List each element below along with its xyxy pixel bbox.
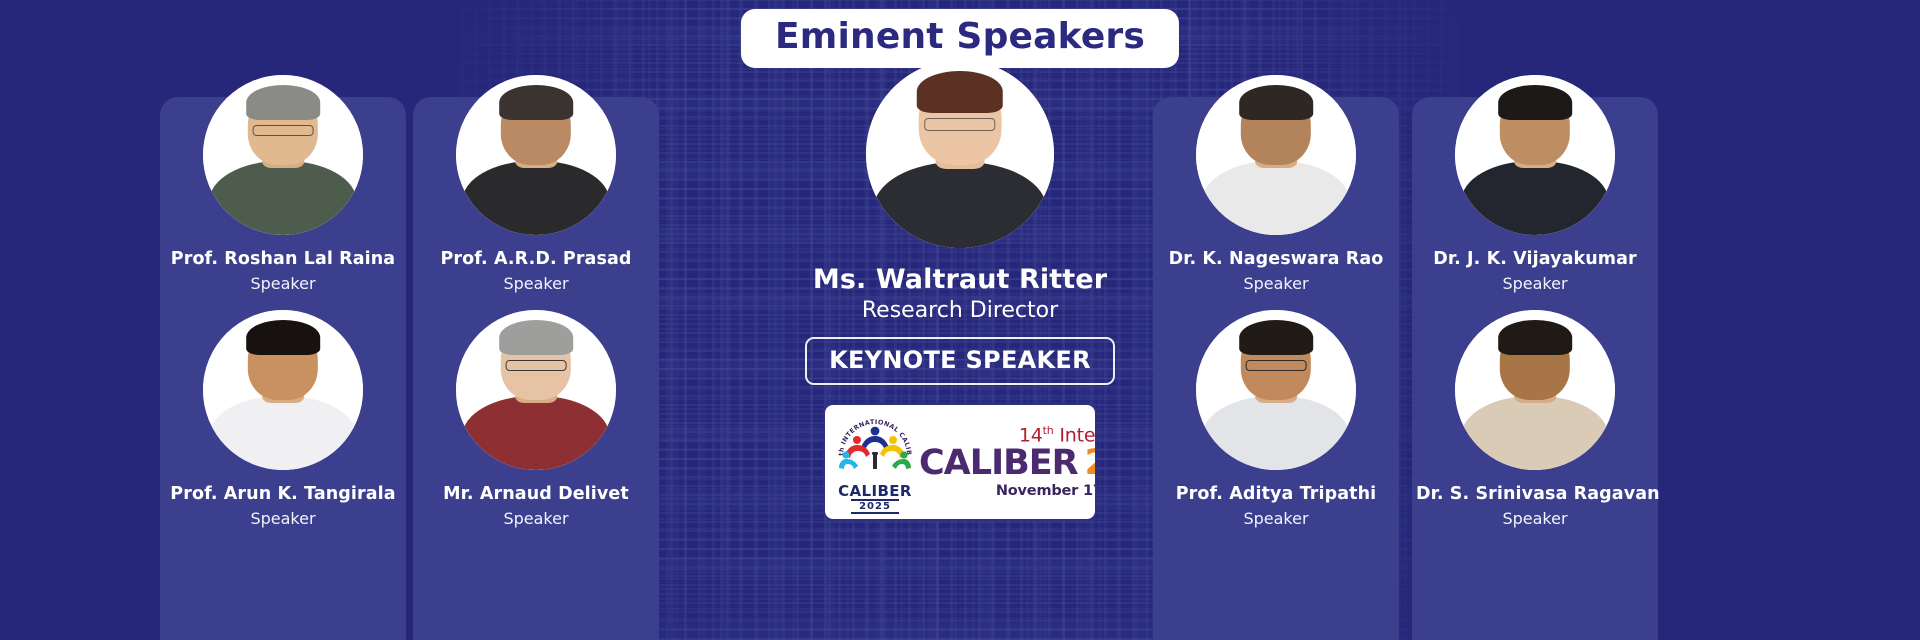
speaker-name: Prof. Arun K. Tangirala [164,484,402,505]
speaker-name-block: Prof. Roshan Lal Raina Speaker [160,249,406,295]
keynote-role: Research Director [750,298,1170,323]
avatar [1455,310,1615,470]
speaker-name: Dr. S. Srinivasa Ragavan [1416,484,1654,505]
speaker-card-arun-k-tangirala[interactable]: Prof. Arun K. Tangirala Speaker [160,332,406,640]
emblem-year-text: 2025 [851,499,899,514]
caliber-logo-text-block: 14th International CALIBER2025 November … [919,425,1097,499]
speaker-name: Prof. Roshan Lal Raina [164,249,402,270]
keynote-name: Ms. Waltraut Ritter [750,264,1170,295]
speaker-name-block: Dr. K. Nageswara Rao Speaker [1153,249,1399,295]
speaker-name-block: Dr. J. K. Vijayakumar Speaker [1412,249,1658,295]
portrait-image [866,60,1054,248]
speaker-name: Dr. K. Nageswara Rao [1157,249,1395,270]
portrait-image [203,310,363,470]
portrait-image [1455,310,1615,470]
portrait-image [1455,75,1615,235]
speaker-role: Speaker [1157,508,1395,530]
avatar [203,75,363,235]
avatar [1196,310,1356,470]
speaker-role: Speaker [1416,508,1654,530]
page-title-pill: Eminent Speakers [741,9,1179,68]
logo-ordinal-suffix: th [1043,424,1054,437]
speaker-name: Mr. Arnaud Delivet [417,484,655,505]
speaker-name: Prof. A.R.D. Prasad [417,249,655,270]
speaker-name-block: Prof. Arun K. Tangirala Speaker [160,484,406,530]
avatar [456,310,616,470]
logo-dates: November 17-19, 2025 [919,484,1097,499]
portrait-image [203,75,363,235]
speaker-role: Speaker [417,508,655,530]
avatar [203,310,363,470]
portrait-image [1196,75,1356,235]
speaker-name: Dr. J. K. Vijayakumar [1416,249,1654,270]
speaker-role: Speaker [164,508,402,530]
emblem-people-icon [839,424,911,472]
speaker-role: Speaker [164,273,402,295]
portrait-image [456,310,616,470]
speaker-name-block: Prof. Aditya Tripathi Speaker [1153,484,1399,530]
speaker-name-block: Prof. A.R.D. Prasad Speaker [413,249,659,295]
logo-edition-line: 14th International [919,425,1097,445]
emblem-year: 2025 [831,494,919,514]
keynote-badge: KEYNOTE SPEAKER [805,337,1115,385]
keynote-speaker-block: Ms. Waltraut Ritter Research Director KE… [750,60,1170,521]
caliber-emblem: 14th INTERNATIONAL CALIBER [831,410,919,514]
speaker-card-arnaud-delivet[interactable]: Mr. Arnaud Delivet Speaker [413,332,659,640]
caliber-logo-card[interactable]: 14th INTERNATIONAL CALIBER [823,403,1097,521]
speaker-role: Speaker [417,273,655,295]
speaker-card-aditya-tripathi[interactable]: Prof. Aditya Tripathi Speaker [1153,332,1399,640]
logo-year: 2025 [1085,443,1097,483]
page-title: Eminent Speakers [775,18,1145,56]
keynote-avatar [866,60,1054,248]
avatar [1455,75,1615,235]
speaker-name-block: Dr. S. Srinivasa Ragavan Speaker [1412,484,1658,530]
speaker-card-s-srinivasa-ragavan[interactable]: Dr. S. Srinivasa Ragavan Speaker [1412,332,1658,640]
portrait-image [456,75,616,235]
speaker-role: Speaker [1157,273,1395,295]
logo-main-line: CALIBER2025 [919,446,1097,481]
logo-caliber-word: CALIBER [919,443,1078,483]
speaker-name-block: Mr. Arnaud Delivet Speaker [413,484,659,530]
speaker-role: Speaker [1416,273,1654,295]
avatar [1196,75,1356,235]
avatar [456,75,616,235]
portrait-image [1196,310,1356,470]
speaker-name: Prof. Aditya Tripathi [1157,484,1395,505]
